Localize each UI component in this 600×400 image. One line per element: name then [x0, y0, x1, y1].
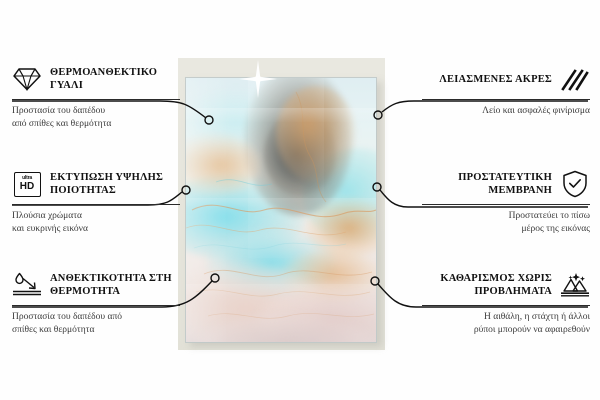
ultra-hd-icon: ultra HD [12, 169, 42, 199]
feature-description: Προστατεύει το πίσω μέρος της εικόνας [422, 210, 590, 235]
feature-description: Προστασία του δαπέδου από σπίθες και θερ… [12, 311, 180, 336]
feature-header: ΛΕΙΑΣΜΕΝΕΣ ΑΚΡΕΣ [422, 62, 590, 96]
feature-heat-resistant-glass: ΘΕΡΜΟΑΝΘΕΚΤΙΚΟ ΓΥΑΛΙ Προστασία του δαπέδ… [12, 62, 180, 130]
feature-description: Πλούσια χρώματα και ευκρινής εικόνα [12, 210, 180, 235]
feature-header: ΚΑΘΑΡΙΣΜΟΣ ΧΩΡΙΣ ΠΡΟΒΛΗΜΑΤΑ [422, 268, 590, 302]
feature-title: ΛΕΙΑΣΜΕΝΕΣ ΑΚΡΕΣ [422, 73, 552, 86]
ink-vein-lines [186, 78, 376, 342]
desc-line-2: σπίθες και θερμότητα [12, 324, 180, 337]
diamond-icon [12, 64, 42, 94]
feature-title: ΘΕΡΜΟΑΝΘΕΚΤΙΚΟ ΓΥΑΛΙ [50, 66, 180, 92]
feature-title: ΠΡΟΣΤΑΤΕΥΤΙΚΗ ΜΕΜΒΡΑΝΗ [422, 171, 552, 197]
feature-easy-cleaning: ΚΑΘΑΡΙΣΜΟΣ ΧΩΡΙΣ ΠΡΟΒΛΗΜΑΤΑ Η αιθάλη, η … [422, 268, 590, 336]
feature-protective-membrane: ΠΡΟΣΤΑΤΕΥΤΙΚΗ ΜΕΜΒΡΑΝΗ Προστατεύει το πί… [422, 167, 590, 235]
divider [422, 305, 590, 306]
desc-line-1: Η αιθάλη, η στάχτη ή άλλοι [422, 311, 590, 324]
feature-header: ΘΕΡΜΟΑΝΘΕΚΤΙΚΟ ΓΥΑΛΙ [12, 62, 180, 96]
feature-header: ΠΡΟΣΤΑΤΕΥΤΙΚΗ ΜΕΜΒΡΑΝΗ [422, 167, 590, 201]
desc-line-2: μέρος της εικόνας [422, 223, 590, 236]
feature-title: ΚΑΘΑΡΙΣΜΟΣ ΧΩΡΙΣ ΠΡΟΒΛΗΜΑΤΑ [422, 272, 552, 298]
feature-title: ΑΝΘΕΚΤΙΚΟΤΗΤΑ ΣΤΗ ΘΕΡΜΟΤΗΤΑ [50, 272, 180, 298]
desc-line-2: ρύποι μπορούν να αφαιρεθούν [422, 324, 590, 337]
divider [422, 204, 590, 205]
sparkle-clean-icon [560, 270, 590, 300]
feature-header: ultra HD ΕΚΤΥΠΩΣΗ ΥΨΗΛΗΣ ΠΟΙΟΤΗΤΑΣ [12, 167, 180, 201]
feature-description: Προστασία του δαπέδου από σπίθες και θερ… [12, 105, 180, 130]
desc-line-1: Προστατεύει το πίσω [422, 210, 590, 223]
desc-line-2: και ευκρινής εικόνα [12, 223, 180, 236]
feature-description: Λείο και ασφαλές φινίρισμα [422, 105, 590, 118]
ultra-hd-bottom-label: HD [20, 182, 34, 192]
feature-header: ΑΝΘΕΚΤΙΚΟΤΗΤΑ ΣΤΗ ΘΕΡΜΟΤΗΤΑ [12, 268, 180, 302]
shield-check-icon [560, 169, 590, 199]
feature-polished-edges: ΛΕΙΑΣΜΕΝΕΣ ΑΚΡΕΣ Λείο και ασφαλές φινίρι… [422, 62, 590, 118]
desc-line-1: Πλούσια χρώματα [12, 210, 180, 223]
desc-line-1: Προστασία του δαπέδου [12, 105, 180, 118]
infographic-canvas: ΘΕΡΜΟΑΝΘΕΚΤΙΚΟ ΓΥΑΛΙ Προστασία του δαπέδ… [0, 0, 600, 400]
diagonal-stripes-icon [560, 64, 590, 94]
flame-heat-resistance-icon [12, 270, 42, 300]
feature-title: ΕΚΤΥΠΩΣΗ ΥΨΗΛΗΣ ΠΟΙΟΤΗΤΑΣ [50, 171, 180, 197]
desc-line-1: Προστασία του δαπέδου από [12, 311, 180, 324]
feature-description: Η αιθάλη, η στάχτη ή άλλοι ρύποι μπορούν… [422, 311, 590, 336]
divider [12, 99, 180, 100]
desc-line-1: Λείο και ασφαλές φινίρισμα [422, 105, 590, 118]
product-image-glass-panel [186, 78, 376, 342]
feature-heat-resistance: ΑΝΘΕΚΤΙΚΟΤΗΤΑ ΣΤΗ ΘΕΡΜΟΤΗΤΑ Προστασία το… [12, 268, 180, 336]
divider [12, 305, 180, 306]
divider [12, 204, 180, 205]
feature-high-quality-print: ultra HD ΕΚΤΥΠΩΣΗ ΥΨΗΛΗΣ ΠΟΙΟΤΗΤΑΣ Πλούσ… [12, 167, 180, 235]
desc-line-2: από σπίθες και θερμότητα [12, 118, 180, 131]
divider [422, 99, 590, 100]
